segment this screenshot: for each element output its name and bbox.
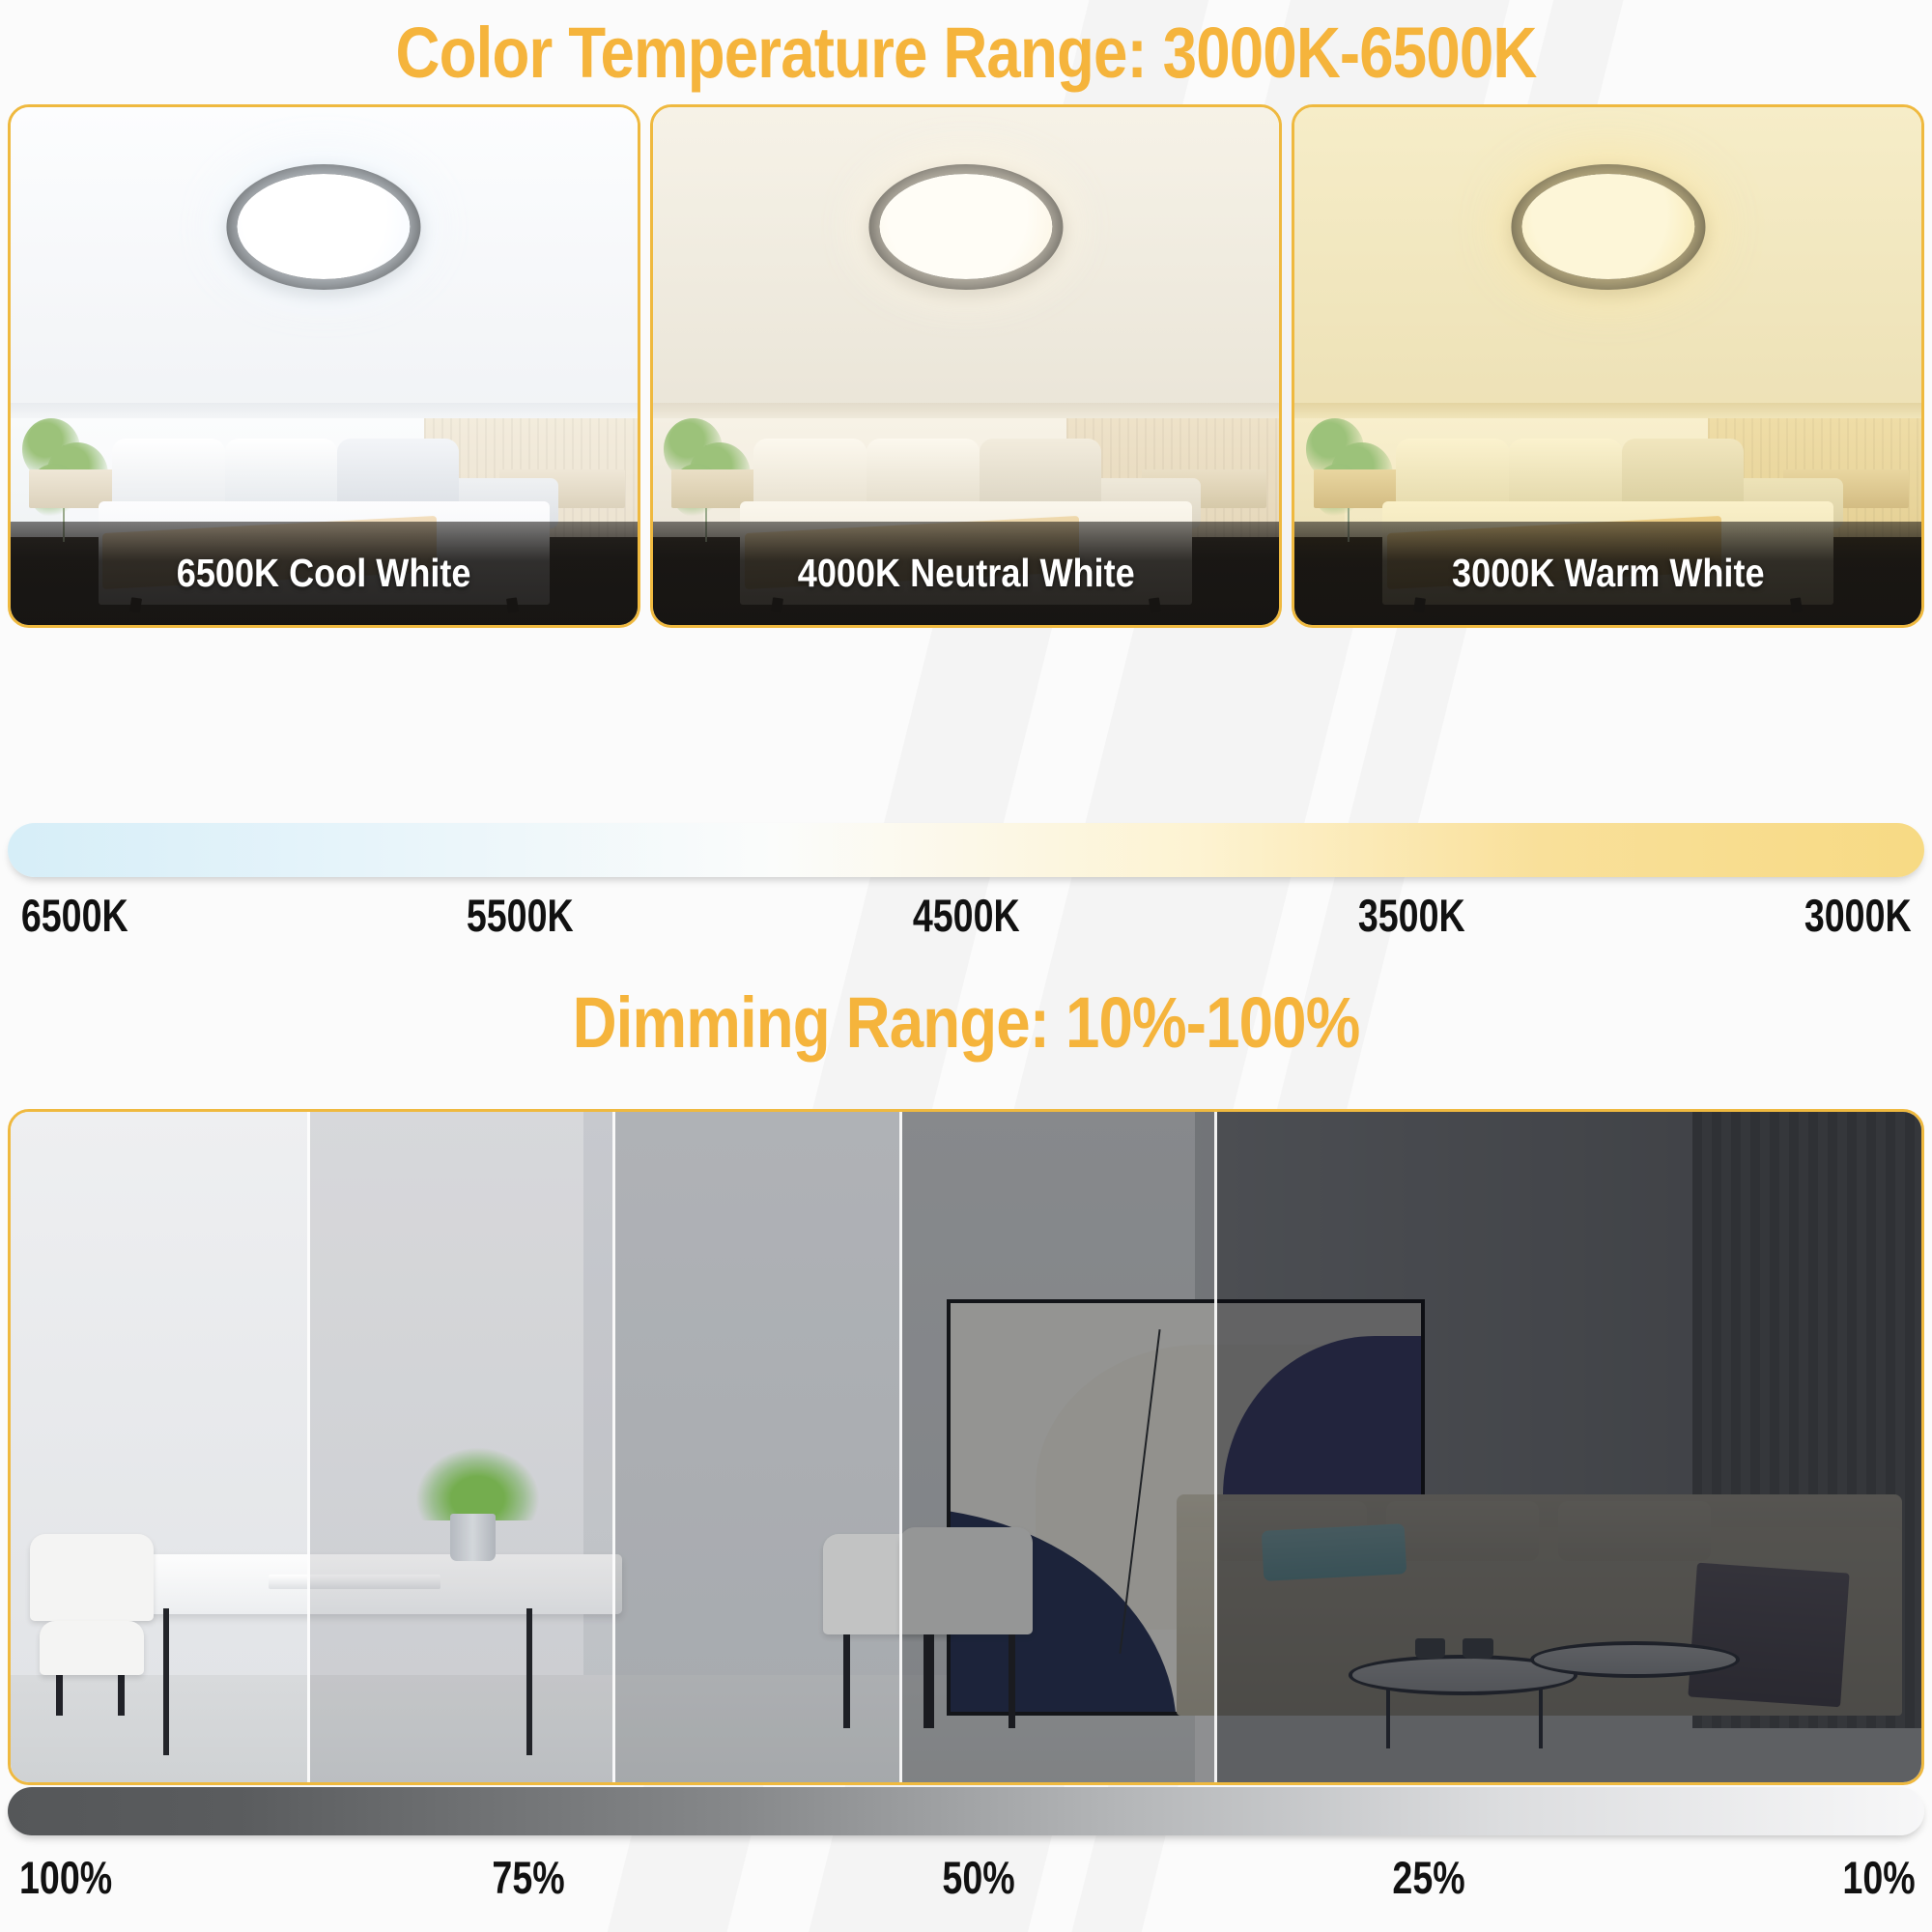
color-temperature-title: Color Temperature Range: 3000K-6500K [135, 17, 1797, 89]
sofa-cushion [1386, 1501, 1539, 1561]
dimming-gradient-bar [8, 1787, 1924, 1835]
living-dining-scene [11, 1112, 1921, 1782]
panel-caption-band: 4000K Neutral White [653, 522, 1280, 625]
teal-throw-pillow [1261, 1523, 1406, 1581]
dim-scale-label: 75% [492, 1851, 564, 1904]
dim-divider [612, 1112, 615, 1782]
color-temperature-panels: 6500K Cool White [8, 104, 1924, 628]
books-stack [269, 1575, 440, 1589]
sofa-blanket [1688, 1563, 1850, 1707]
pillow [1622, 439, 1744, 511]
cct-scale-label: 5500K [467, 889, 574, 942]
glass-vase [450, 1514, 496, 1561]
ceiling-light-fixture [227, 164, 421, 290]
color-temperature-scale-labels: 6500K 5500K 4500K 3500K 3000K [8, 889, 1924, 942]
cct-caption-3000k: 3000K Warm White [1452, 551, 1764, 596]
dim-divider [307, 1112, 310, 1782]
dim-scale-label: 50% [942, 1851, 1014, 1904]
dimming-range-title: Dimming Range: 10%-100% [135, 987, 1797, 1059]
ceiling-light-fixture [1511, 164, 1705, 290]
dim-divider [899, 1112, 902, 1782]
cct-panel-4000k[interactable]: 4000K Neutral White [650, 104, 1283, 628]
table-leg [163, 1608, 169, 1756]
infographic-page: Color Temperature Range: 3000K-6500K [0, 0, 1932, 1932]
cct-scale-label: 6500K [21, 889, 128, 942]
color-temperature-gradient-bar [8, 823, 1924, 877]
chair-leg [923, 1634, 930, 1728]
pillow [1396, 439, 1509, 511]
lamp-diffuser [238, 174, 411, 279]
table-leg [526, 1608, 532, 1756]
pillow [753, 439, 867, 511]
ceiling-light-fixture [868, 164, 1063, 290]
panel-caption-band: 6500K Cool White [11, 522, 638, 625]
dining-chair [30, 1534, 155, 1621]
dimming-scale-labels: 100% 75% 50% 25% 10% [8, 1851, 1924, 1904]
pillow [225, 439, 338, 511]
table-plant [415, 1447, 540, 1520]
cct-panel-6500k[interactable]: 6500K Cool White [8, 104, 640, 628]
chair-leg [1009, 1634, 1015, 1728]
coffee-table-leg [1386, 1689, 1390, 1748]
cct-scale-label: 4500K [913, 889, 1020, 942]
dining-chair [40, 1621, 145, 1675]
lamp-diffuser [880, 174, 1053, 279]
pillow [112, 439, 225, 511]
decor-cup [1463, 1638, 1493, 1659]
dim-scale-label: 100% [19, 1851, 112, 1904]
cct-caption-4000k: 4000K Neutral White [798, 551, 1135, 596]
pillow [980, 439, 1101, 511]
chair-leg [843, 1634, 850, 1728]
lamp-diffuser [1521, 174, 1694, 279]
cct-scale-label: 3000K [1804, 889, 1911, 942]
pillow [867, 439, 980, 511]
dim-divider [1214, 1112, 1217, 1782]
pillow [337, 439, 459, 511]
dim-scale-label: 10% [1842, 1851, 1915, 1904]
sofa-cushion [1558, 1501, 1711, 1561]
coffee-table-leg [1539, 1689, 1543, 1748]
dining-chair [899, 1527, 1033, 1634]
decor-cup [1415, 1638, 1446, 1659]
cct-panel-3000k[interactable]: 3000K Warm White [1292, 104, 1924, 628]
panel-caption-band: 3000K Warm White [1294, 522, 1921, 625]
pillow [1509, 439, 1622, 511]
dimming-scene-panel[interactable] [8, 1109, 1924, 1785]
cct-caption-6500k: 6500K Cool White [177, 551, 471, 596]
cct-scale-label: 3500K [1358, 889, 1465, 942]
dim-scale-label: 25% [1392, 1851, 1464, 1904]
